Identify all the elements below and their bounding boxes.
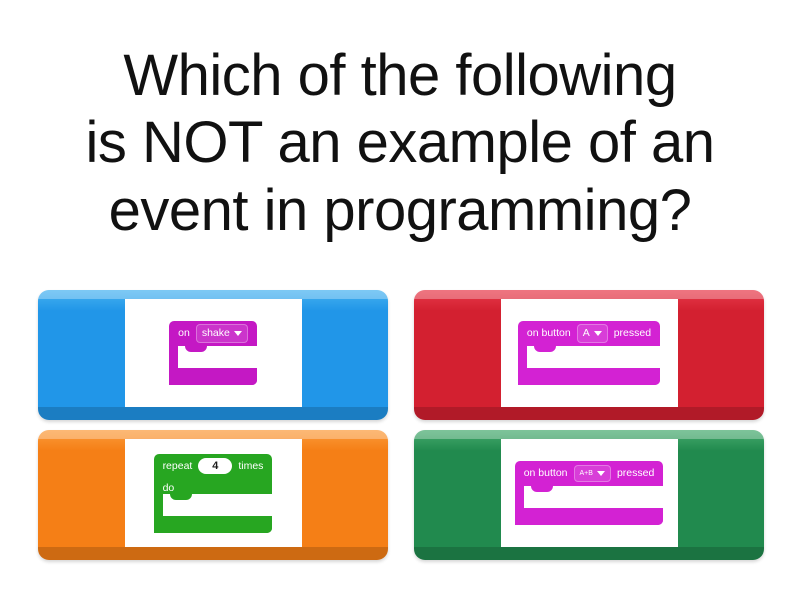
block-prefix-label: on: [178, 328, 190, 339]
block-foot: [515, 508, 664, 525]
block-canvas-d: on button A+B pressed: [501, 439, 678, 547]
chevron-down-icon: [594, 331, 602, 336]
block-prefix-label: on button: [524, 468, 568, 479]
question-area: Which of the following is NOT an example…: [0, 18, 800, 268]
answer-image-b: on button A pressed: [414, 299, 764, 407]
makecode-block-on-button-ab-pressed: on button A+B pressed: [515, 461, 664, 525]
block-mouth: [527, 346, 660, 368]
answer-image-d: on button A+B pressed: [414, 439, 764, 547]
makecode-block-on-shake: on shake: [169, 321, 257, 385]
block-prefix-label: repeat: [163, 461, 193, 472]
page-title: Which of the following is NOT an example…: [20, 42, 780, 244]
block-dropdown-value: A+B: [580, 470, 593, 477]
block-mouth: [163, 494, 273, 516]
answer-option-c[interactable]: repeat 4 times do: [38, 430, 388, 560]
makecode-block-repeat-times: repeat 4 times do: [154, 454, 273, 533]
block-notch: [531, 486, 553, 492]
block-foot: [169, 368, 257, 385]
block-notch: [185, 346, 207, 352]
chevron-down-icon: [597, 471, 605, 476]
answer-image-a: on shake: [38, 299, 388, 407]
block-dropdown-shake[interactable]: shake: [196, 324, 248, 343]
makecode-block-on-button-a-pressed: on button A pressed: [518, 321, 660, 385]
block-foot: [154, 516, 273, 533]
block-notch: [534, 346, 556, 352]
answer-option-a[interactable]: on shake: [38, 290, 388, 420]
block-number-field[interactable]: 4: [198, 458, 232, 474]
chevron-down-icon: [234, 331, 242, 336]
block-body-label: do: [154, 479, 179, 494]
block-mouth: [178, 346, 257, 368]
block-suffix-label: times: [238, 461, 263, 472]
block-suffix-label: pressed: [614, 328, 651, 339]
block-dropdown-value: shake: [202, 328, 230, 339]
block-suffix-label: pressed: [617, 468, 654, 479]
block-foot: [518, 368, 660, 385]
answer-option-d[interactable]: on button A+B pressed: [414, 430, 764, 560]
block-prefix-label: on button: [527, 328, 571, 339]
block-dropdown-button[interactable]: A: [577, 324, 608, 343]
block-canvas-a: on shake: [125, 299, 302, 407]
block-canvas-b: on button A pressed: [501, 299, 678, 407]
block-notch: [170, 494, 192, 500]
block-canvas-c: repeat 4 times do: [125, 439, 302, 547]
answer-option-b[interactable]: on button A pressed: [414, 290, 764, 420]
answer-options-grid: on shake: [38, 290, 764, 568]
block-dropdown-value: A: [583, 328, 590, 339]
answer-image-c: repeat 4 times do: [38, 439, 388, 547]
block-dropdown-button[interactable]: A+B: [574, 465, 611, 482]
block-mouth: [524, 486, 664, 508]
